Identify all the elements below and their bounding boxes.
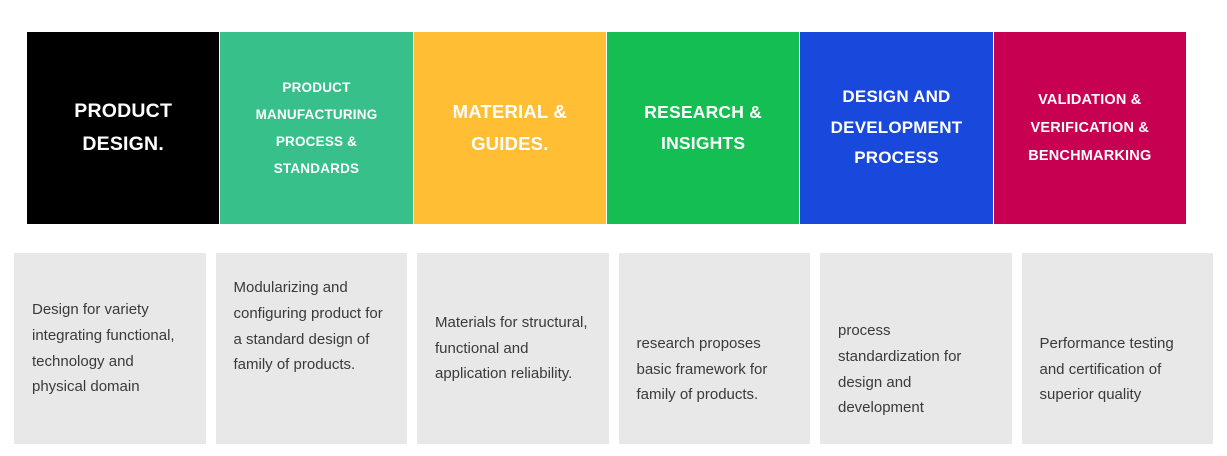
stage-description-text: Modularizing and configuring product for… xyxy=(234,275,390,378)
stage-description-text: research proposes basic framework for fa… xyxy=(637,331,793,408)
stage-header-label: RESEARCH & INSIGHTS xyxy=(644,97,762,159)
stage-header-band: PRODUCT DESIGN. PRODUCT MANUFACTURING PR… xyxy=(27,32,1186,224)
stage-description-card-product-design: Design for variety integrating functiona… xyxy=(14,253,206,444)
stage-header-product-design[interactable]: PRODUCT DESIGN. xyxy=(27,32,220,224)
stage-header-product-manufacturing-process-and-standards[interactable]: PRODUCT MANUFACTURING PROCESS & STANDARD… xyxy=(220,32,413,224)
stage-description-text: Performance testing and certification of… xyxy=(1040,331,1196,408)
stage-header-label: DESIGN AND DEVELOPMENT PROCESS xyxy=(831,82,963,174)
stage-header-label: VALIDATION & VERIFICATION & BENCHMARKING xyxy=(1028,86,1151,171)
stage-header-design-and-development-process[interactable]: DESIGN AND DEVELOPMENT PROCESS xyxy=(800,32,993,224)
stage-header-label: PRODUCT MANUFACTURING PROCESS & STANDARD… xyxy=(256,74,378,182)
stage-description-card-material-and-guides: Materials for structural, functional and… xyxy=(417,253,609,444)
stage-description-card-research-and-insights: research proposes basic framework for fa… xyxy=(619,253,811,444)
stage-description-text: process standardization for design and d… xyxy=(838,318,994,421)
stage-header-label: PRODUCT DESIGN. xyxy=(74,95,172,161)
stage-description-row: Design for variety integrating functiona… xyxy=(14,253,1213,444)
stage-header-label: MATERIAL & GUIDES. xyxy=(453,96,567,160)
stage-description-text: Materials for structural, functional and… xyxy=(435,310,591,387)
stage-description-card-validation-verification-and-benchmarking: Performance testing and certification of… xyxy=(1022,253,1214,444)
process-framework-diagram: PRODUCT DESIGN. PRODUCT MANUFACTURING PR… xyxy=(0,0,1227,456)
stage-description-text: Design for variety integrating functiona… xyxy=(32,297,188,400)
stage-description-card-product-manufacturing-process-and-standards: Modularizing and configuring product for… xyxy=(216,253,408,444)
stage-header-research-and-insights[interactable]: RESEARCH & INSIGHTS xyxy=(607,32,800,224)
stage-header-material-and-guides[interactable]: MATERIAL & GUIDES. xyxy=(414,32,607,224)
stage-description-card-design-and-development-process: process standardization for design and d… xyxy=(820,253,1012,444)
stage-header-validation-verification-and-benchmarking[interactable]: VALIDATION & VERIFICATION & BENCHMARKING xyxy=(994,32,1186,224)
